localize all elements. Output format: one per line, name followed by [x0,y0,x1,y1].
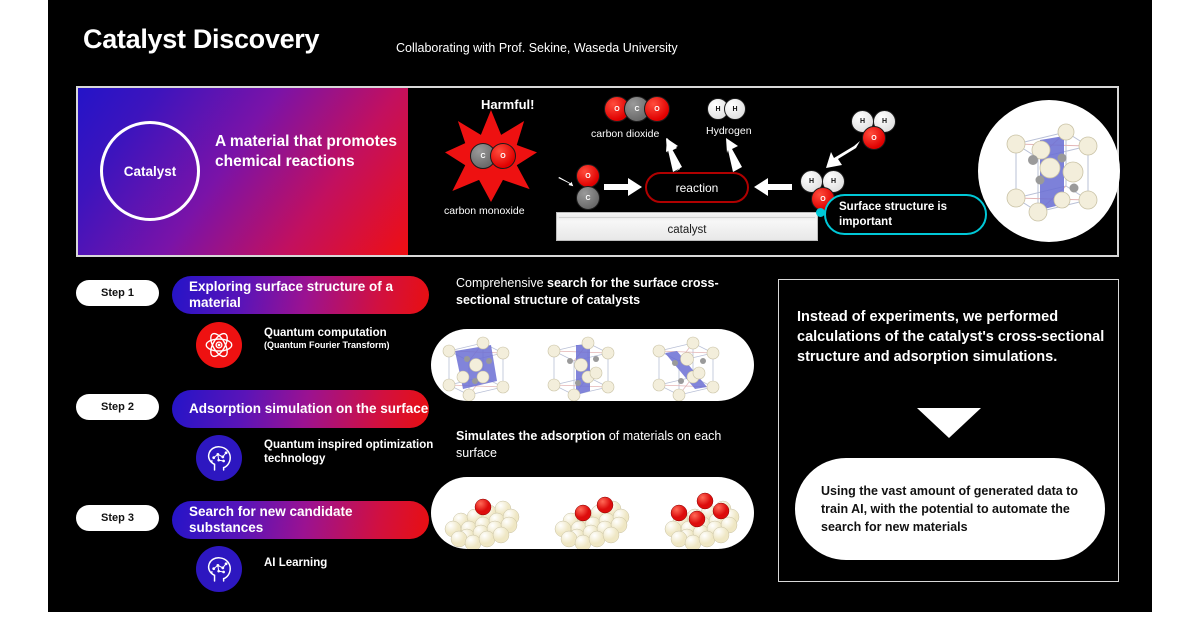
step-badge-label: Step 3 [101,512,134,524]
carbon-dioxide-label: carbon dioxide [591,128,659,140]
caption-plain-1: Comprehensive [456,276,547,290]
catalyst-circle-label: Catalyst [124,164,177,179]
atom-oxygen: O [490,143,516,169]
surface-structure-callout: Surface structure is important [824,194,987,235]
tech-secondary-label: (Quantum Fourier Transform) [264,340,390,350]
catalyst-circle: Catalyst [100,121,200,221]
arrow-up-h2-icon [726,138,750,172]
adsorption-slab-row-icon [431,477,754,549]
arrow-up-co2-icon [666,138,690,172]
step-banner-1[interactable]: Exploring surface structure of a materia… [172,276,429,314]
crystal-lattice-row-icon [431,329,754,401]
brain-head-icon [196,435,242,481]
outcome-box: Using the vast amount of generated data … [795,458,1105,560]
down-arrow-icon [917,408,981,438]
slide-canvas: Catalyst Discovery Collaborating with Pr… [48,0,1152,612]
caption-bold-2: Simulates the adsorption [456,429,605,443]
step-badge-1: Step 1 [76,280,159,306]
step-badge-label: Step 2 [101,401,134,413]
conclusion-panel: Instead of experiments, we performed cal… [778,279,1119,582]
adsorption-gallery [431,477,754,549]
page-title: Catalyst Discovery [83,24,319,55]
atom-oxygen: O [576,164,600,188]
crystal-lattice-icon [978,100,1120,242]
atom-oxygen: O [862,126,886,150]
step-banner-3[interactable]: Search for new candidate substances [172,501,429,539]
carbon-monoxide-label: carbon monoxide [444,205,525,217]
step-banner-2[interactable]: Adsorption simulation on the surface [172,390,429,428]
reaction-diagram: Harmful! C O carbon monoxide O C reactio… [408,88,968,255]
tech-primary-label: Quantum computation [264,326,390,340]
hydrogen-label: Hydrogen [706,125,752,137]
atom-carbon: C [576,186,600,210]
atom-hydrogen: H [724,98,746,120]
step-title: Adsorption simulation on the surface [189,401,428,417]
brain-head-icon [196,546,242,592]
atom-icon [196,322,242,368]
outcome-text: Using the vast amount of generated data … [795,482,1105,536]
harmful-label: Harmful! [481,97,534,112]
overview-panel: Catalyst A material that promotes chemic… [76,86,1119,257]
step-tech-1: Quantum computation (Quantum Fourier Tra… [264,326,390,350]
reaction-label: reaction [676,181,719,195]
conclusion-statement: Instead of experiments, we performed cal… [797,307,1109,367]
crystal-structure-circle [978,100,1120,242]
callout-label: Surface structure is important [839,200,985,229]
atom-oxygen: O [644,96,670,122]
step-tech-2: Quantum inspired optimization technology [264,438,446,467]
adsorption-caption: Simulates the adsorption of materials on… [456,428,731,461]
tech-primary-label: Quantum inspired optimization technology [264,438,446,467]
catalyst-surface-bar: catalyst [556,212,818,241]
step-title: Search for new candidate substances [189,504,429,536]
comprehensive-search-caption: Comprehensive search for the surface cro… [456,275,731,308]
arrow-water-down-icon [826,141,860,171]
step-title: Exploring surface structure of a materia… [189,279,429,311]
tech-primary-label: AI Learning [264,556,327,570]
step-badge-label: Step 1 [101,287,134,299]
step-tech-3: AI Learning [264,556,327,570]
collaboration-subtitle: Collaborating with Prof. Sekine, Waseda … [396,41,678,55]
arrow-left-icon [754,178,792,196]
arrow-right-icon [604,178,642,196]
step-badge-2: Step 2 [76,394,159,420]
catalyst-definition-box: Catalyst A material that promotes chemic… [78,88,408,255]
crystal-gallery [431,329,754,401]
reaction-node: reaction [645,172,749,203]
catalyst-description: A material that promotes chemical reacti… [215,132,405,173]
step-badge-3: Step 3 [76,505,159,531]
catalyst-bar-label: catalyst [668,224,707,236]
